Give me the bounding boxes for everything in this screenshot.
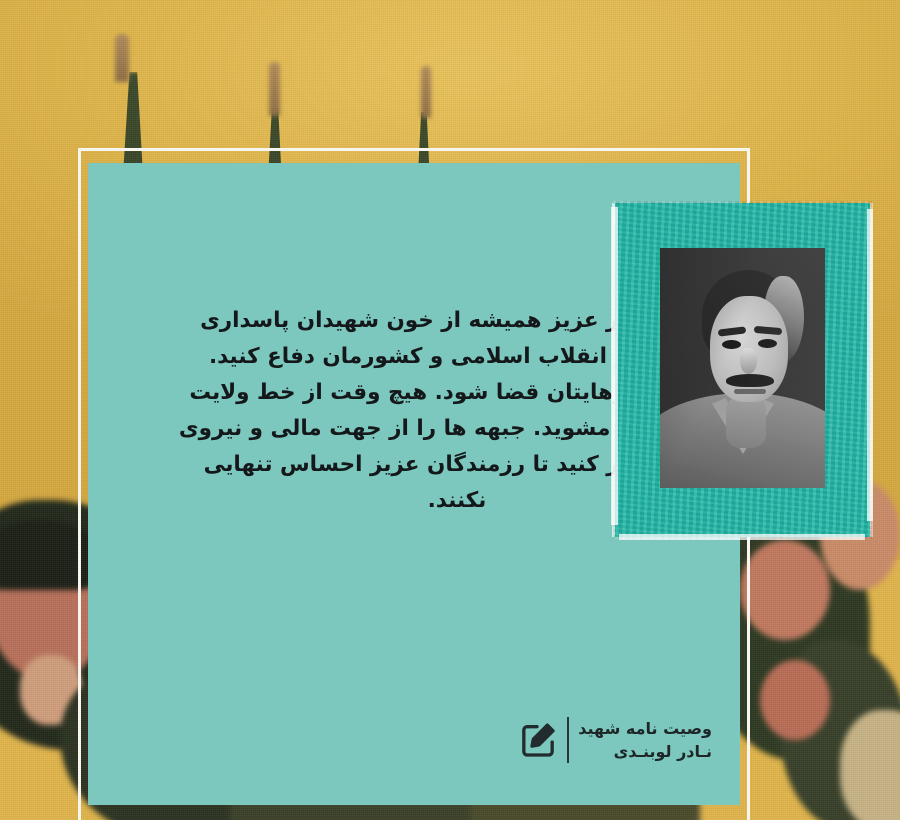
portrait-illustration bbox=[660, 248, 825, 488]
crowd-face bbox=[760, 660, 830, 740]
signature-title: وصیت نامه شهید bbox=[578, 719, 712, 738]
portrait-lighting bbox=[660, 248, 825, 488]
crowd-face bbox=[740, 540, 830, 640]
portrait-photo bbox=[660, 248, 825, 488]
signature-caption: وصیت نامه شهید نـادر لوبنـدی bbox=[567, 717, 712, 763]
testament-poster: پدر و مادر عزیز همیشه از خون شهیدان پاسد… bbox=[0, 0, 900, 820]
portrait-photo-frame bbox=[615, 203, 870, 537]
edit-document-icon bbox=[518, 720, 558, 760]
martyr-name: نـادر لوبنـدی bbox=[614, 742, 712, 761]
signature-block: وصیت نامه شهید نـادر لوبنـدی bbox=[518, 717, 712, 763]
banner-cone-2-tip bbox=[269, 62, 280, 116]
frame-highlight bbox=[619, 534, 865, 540]
frame-highlight bbox=[867, 209, 873, 521]
banner-cone-1-tip bbox=[115, 34, 129, 82]
banner-cone-3-tip bbox=[421, 66, 431, 118]
frame-highlight bbox=[611, 207, 618, 525]
